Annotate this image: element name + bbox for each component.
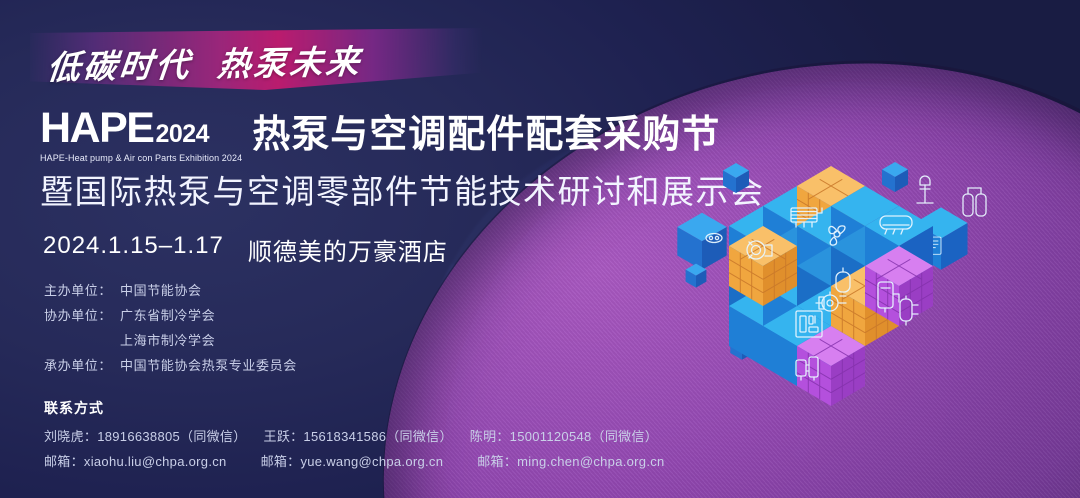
cube-column-mid-back <box>763 266 831 346</box>
contact-email: 邮箱：ming.chen@chpa.org.cn <box>477 451 664 470</box>
organizer-label: 承办单位： <box>44 355 120 374</box>
contact-phone: 陈明：15001120548（同微信） <box>470 426 658 445</box>
cube-column-center <box>797 206 865 286</box>
floating-mini-cube <box>677 213 726 270</box>
cube-column-right <box>831 186 899 266</box>
cube-column-right <box>831 266 899 346</box>
page-subtitle: 暨国际热泵与空调零部件节能技术研讨和展示会 <box>40 165 765 213</box>
contact-email-label: 邮箱： <box>44 454 84 469</box>
organizer-row: 协办单位： 广东省制冷学会 <box>44 305 297 324</box>
headline-row: HAPE 2024 HAPE-Heat pump & Air con Parts… <box>40 107 720 163</box>
pump-assembly-icon <box>796 357 818 380</box>
floating-mini-cube <box>882 162 908 192</box>
brand-name-row: HAPE 2024 <box>40 107 242 150</box>
event-venue: 顺德美的万豪酒店 <box>248 232 448 267</box>
detached-blue-cube-right <box>914 207 967 269</box>
organizer-row: 承办单位： 中国节能协会热泵专业委员会 <box>44 355 297 374</box>
cube-column-back-left <box>729 286 797 366</box>
slogan-part-2: 热泵未来 <box>215 35 364 86</box>
cube-column-front-purple <box>797 326 865 406</box>
cube-column-center <box>797 286 865 366</box>
cylinder-pair-icon <box>963 188 986 216</box>
control-board-icon <box>796 311 822 337</box>
contact-email-label: 邮箱： <box>261 454 301 469</box>
cube-column-center <box>797 246 865 326</box>
heat-exchanger-icon <box>791 208 822 227</box>
contact-email-value: xiaohu.liu@chpa.org.cn <box>84 454 227 469</box>
contact-email: 邮箱：xiaohu.liu@chpa.org.cn <box>44 451 227 470</box>
organizer-value: 中国节能协会 <box>120 280 202 299</box>
gauge-icon <box>706 234 722 243</box>
cube-column-mid-back <box>763 186 831 266</box>
contact-email-label: 邮箱： <box>477 454 517 469</box>
event-poster: 低碳时代 热泵未来 HAPE 2024 HAPE-Heat pump & Air… <box>0 0 1080 498</box>
contact-phone: 王跃：15618341586（同微信） <box>264 426 453 445</box>
filter-dryer-icon <box>900 296 918 325</box>
organizer-list: 主办单位： 中国节能协会 协办单位： 广东省制冷学会 协办单位： 上海市制冷学会… <box>44 280 297 374</box>
valve-icon <box>816 292 846 311</box>
air-conditioner-icon <box>880 216 912 234</box>
brand-english-subtitle: HAPE-Heat pump & Air con Parts Exhibitio… <box>40 153 242 163</box>
water-heater-icon <box>878 282 899 312</box>
cube-column-back-left <box>729 206 797 286</box>
event-date: 2024.1.15–1.17 <box>43 232 224 267</box>
cube-column-right <box>831 226 899 306</box>
cube-column-front-left-orange <box>729 226 797 306</box>
cube-column-back-left <box>729 246 797 326</box>
organizer-value: 广东省制冷学会 <box>120 305 215 324</box>
contact-heading: 联系方式 <box>44 398 104 418</box>
brand-name: HAPE <box>40 107 153 150</box>
contact-phone: 刘晓虎：18916638805（同微信） <box>44 426 247 445</box>
brand-year: 2024 <box>155 122 209 147</box>
page-title: 热泵与空调配件配套采购节 <box>252 116 720 163</box>
cube-column-far-right <box>865 206 933 286</box>
date-venue-row: 2024.1.15–1.17 顺德美的万豪酒店 <box>43 232 448 267</box>
cube-column-far-right <box>865 246 933 326</box>
cube-column-top-orange <box>797 166 865 246</box>
accumulator-icon <box>836 268 850 296</box>
organizer-label: 主办单位： <box>44 280 120 299</box>
floating-mini-cube <box>686 264 707 288</box>
floating-mini-cube <box>730 333 753 360</box>
organizer-label: 协办单位： <box>44 305 120 324</box>
brand-lockup: HAPE 2024 HAPE-Heat pump & Air con Parts… <box>40 107 242 163</box>
compressor-icon <box>747 241 772 259</box>
slogan-part-1: 低碳时代 <box>45 38 194 89</box>
contact-email: 邮箱：yue.wang@chpa.org.cn <box>261 451 444 470</box>
organizer-value: 中国节能协会热泵专业委员会 <box>120 355 297 374</box>
cube-column-mid-back <box>763 226 831 306</box>
organizer-row: 主办单位： 中国节能协会 <box>44 280 297 299</box>
organizer-row: 协办单位： 上海市制冷学会 <box>44 330 297 349</box>
slogan-banner-text: 低碳时代 热泵未来 <box>45 32 471 90</box>
contact-phone-row: 刘晓虎：18916638805（同微信） 王跃：15618341586（同微信）… <box>44 426 658 445</box>
contact-email-value: ming.chen@chpa.org.cn <box>517 454 664 469</box>
test-rig-icon <box>917 176 933 203</box>
cube-column-front <box>763 306 831 386</box>
organizer-value: 上海市制冷学会 <box>120 330 215 349</box>
contact-email-value: yue.wang@chpa.org.cn <box>300 454 443 469</box>
floating-mini-cube <box>884 155 996 287</box>
contact-email-row: 邮箱：xiaohu.liu@chpa.org.cn 邮箱：yue.wang@ch… <box>44 451 665 470</box>
fan-icon <box>829 226 845 245</box>
